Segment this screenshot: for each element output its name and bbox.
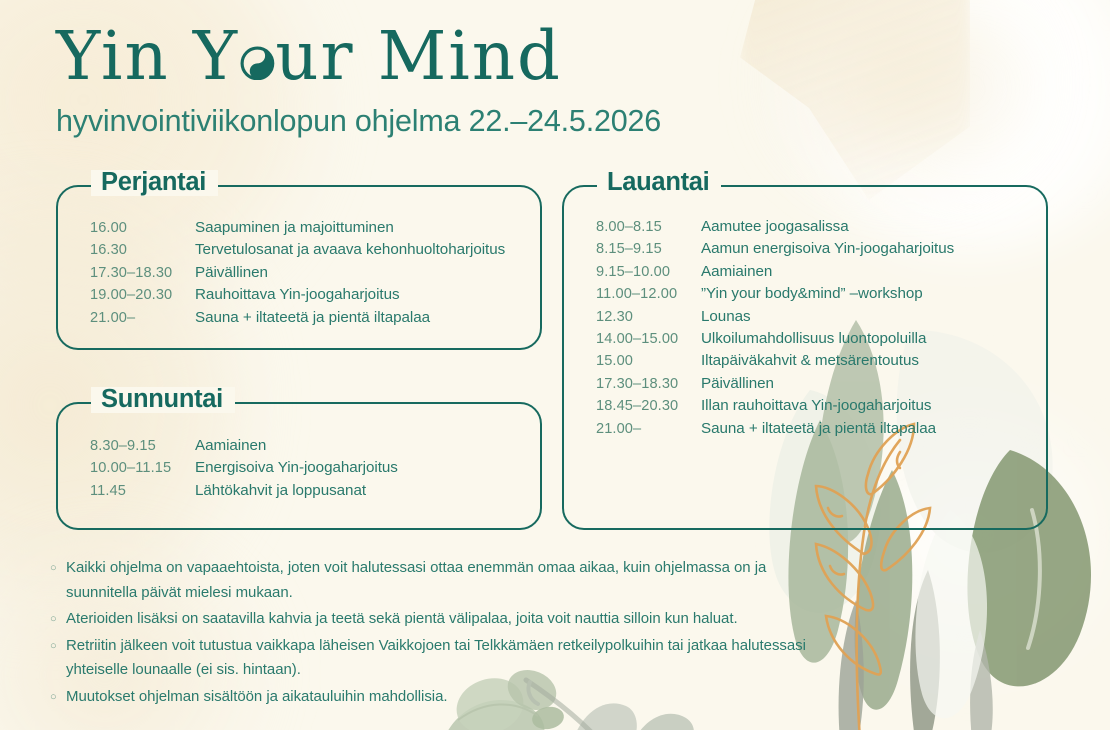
day-card-lauantai: Lauantai 8.00–8.15 Aamutee joogasalissa …	[562, 185, 1048, 530]
note-item: ○ Muutokset ohjelman sisältöön ja aikata…	[50, 685, 840, 710]
schedule-time: 11.00–12.00	[596, 283, 701, 305]
page-subtitle: hyvinvointiviikonlopun ohjelma 22.–24.5.…	[56, 104, 661, 139]
day-title-perjantai: Perjantai	[91, 170, 218, 196]
schedule-time: 8.00–8.15	[596, 216, 701, 238]
schedule-row: 21.00– Sauna + iltateetä ja pientä iltap…	[596, 418, 1046, 440]
schedule-row: 11.00–12.00 ”Yin your body&mind” –worksh…	[596, 283, 1046, 305]
schedule-time: 15.00	[596, 350, 701, 372]
day-card-sunnuntai: Sunnuntai 8.30–9.15 Aamiainen 10.00–11.1…	[56, 402, 542, 530]
schedule-description: Aamiainen	[701, 261, 772, 283]
note-item: ○ Retriitin jälkeen voit tutustua vaikka…	[50, 634, 840, 683]
schedule-description: Illan rauhoittava Yin-joogaharjoitus	[701, 395, 931, 417]
schedule-description: Iltapäiväkahvit & metsärentoutus	[701, 350, 919, 372]
schedule-row: 16.00 Saapuminen ja majoittuminen	[90, 217, 540, 239]
bullet-circle-icon: ○	[50, 685, 66, 710]
page-title: Yin Y ur Mind	[56, 22, 661, 90]
note-text: Retriitin jälkeen voit tutustua vaikkapa…	[66, 634, 840, 683]
schedule-description: ”Yin your body&mind” –workshop	[701, 283, 923, 305]
notes-list: ○ Kaikki ohjelma on vapaaehtoista, joten…	[50, 556, 840, 711]
page-title-part-2: ur Mind	[275, 22, 562, 90]
schedule-description: Lähtökahvit ja loppusanat	[195, 480, 366, 502]
schedule-time: 14.00–15.00	[596, 328, 701, 350]
schedule-description: Sauna + iltateetä ja pientä iltapalaa	[195, 307, 430, 329]
schedule-time: 19.00–20.30	[90, 284, 195, 306]
schedule-time: 17.30–18.30	[596, 373, 701, 395]
schedule-description: Saapuminen ja majoittuminen	[195, 217, 394, 239]
schedule-description: Aamun energisoiva Yin-joogaharjoitus	[701, 238, 954, 260]
schedule-time: 8.15–9.15	[596, 238, 701, 260]
schedule-time: 16.30	[90, 239, 195, 261]
note-text: Aterioiden lisäksi on saatavilla kahvia …	[66, 607, 738, 632]
schedule-time: 21.00–	[90, 307, 195, 329]
note-text: Muutokset ohjelman sisältöön ja aikataul…	[66, 685, 447, 710]
paper-shard-decoration	[740, 0, 970, 200]
note-item: ○ Kaikki ohjelma on vapaaehtoista, joten…	[50, 556, 840, 605]
schedule-description: Tervetulosanat ja avaava kehonhuoltoharj…	[195, 239, 505, 261]
schedule-time: 8.30–9.15	[90, 435, 195, 457]
schedule-description: Aamutee joogasalissa	[701, 216, 849, 238]
schedule-row: 8.15–9.15 Aamun energisoiva Yin-joogahar…	[596, 238, 1046, 260]
schedule-time: 16.00	[90, 217, 195, 239]
day-title-sunnuntai: Sunnuntai	[91, 387, 235, 413]
schedule-row: 14.00–15.00 Ulkoilumahdollisuus luontopo…	[596, 328, 1046, 350]
schedule-time: 18.45–20.30	[596, 395, 701, 417]
bullet-circle-icon: ○	[50, 607, 66, 632]
schedule-list-perjantai: 16.00 Saapuminen ja majoittuminen 16.30 …	[58, 187, 540, 329]
day-title-lauantai: Lauantai	[597, 170, 721, 196]
schedule-row: 10.00–11.15 Energisoiva Yin-joogaharjoit…	[90, 457, 540, 479]
schedule-row: 11.45 Lähtökahvit ja loppusanat	[90, 480, 540, 502]
schedule-list-lauantai: 8.00–8.15 Aamutee joogasalissa 8.15–9.15…	[564, 187, 1046, 440]
schedule-description: Rauhoittava Yin-joogaharjoitus	[195, 284, 400, 306]
schedule-description: Energisoiva Yin-joogaharjoitus	[195, 457, 398, 479]
schedule-row: 17.30–18.30 Päivällinen	[596, 373, 1046, 395]
schedule-list-sunnuntai: 8.30–9.15 Aamiainen 10.00–11.15 Energiso…	[58, 404, 540, 502]
schedule-time: 10.00–11.15	[90, 457, 195, 479]
page-title-part-1: Yin Y	[56, 22, 239, 90]
schedule-description: Lounas	[701, 306, 751, 328]
schedule-row: 16.30 Tervetulosanat ja avaava kehonhuol…	[90, 239, 540, 261]
schedule-time: 21.00–	[596, 418, 701, 440]
schedule-description: Sauna + iltateetä ja pientä iltapalaa	[701, 418, 936, 440]
note-item: ○ Aterioiden lisäksi on saatavilla kahvi…	[50, 607, 840, 632]
day-card-perjantai: Perjantai 16.00 Saapuminen ja majoittumi…	[56, 185, 542, 350]
yin-yang-icon	[240, 46, 275, 81]
schedule-row: 18.45–20.30 Illan rauhoittava Yin-joogah…	[596, 395, 1046, 417]
schedule-description: Aamiainen	[195, 435, 266, 457]
schedule-row: 8.30–9.15 Aamiainen	[90, 435, 540, 457]
schedule-description: Ulkoilumahdollisuus luontopoluilla	[701, 328, 926, 350]
schedule-row: 15.00 Iltapäiväkahvit & metsärentoutus	[596, 350, 1046, 372]
schedule-time: 9.15–10.00	[596, 261, 701, 283]
schedule-description: Päivällinen	[701, 373, 774, 395]
watercolor-wash-top-right-cream	[770, 0, 1050, 200]
schedule-row: 17.30–18.30 Päivällinen	[90, 262, 540, 284]
bullet-circle-icon: ○	[50, 634, 66, 659]
header: Yin Y ur Mind hyvinvointiviikonlopun ohj…	[56, 22, 661, 139]
bullet-circle-icon: ○	[50, 556, 66, 581]
schedule-row: 19.00–20.30 Rauhoittava Yin-joogaharjoit…	[90, 284, 540, 306]
schedule-time: 11.45	[90, 480, 195, 502]
note-text: Kaikki ohjelma on vapaaehtoista, joten v…	[66, 556, 840, 605]
schedule-row: 21.00– Sauna + iltateetä ja pientä iltap…	[90, 307, 540, 329]
schedule-time: 17.30–18.30	[90, 262, 195, 284]
schedule-description: Päivällinen	[195, 262, 268, 284]
schedule-row: 8.00–8.15 Aamutee joogasalissa	[596, 216, 1046, 238]
schedule-row: 9.15–10.00 Aamiainen	[596, 261, 1046, 283]
schedule-time: 12.30	[596, 306, 701, 328]
schedule-row: 12.30 Lounas	[596, 306, 1046, 328]
